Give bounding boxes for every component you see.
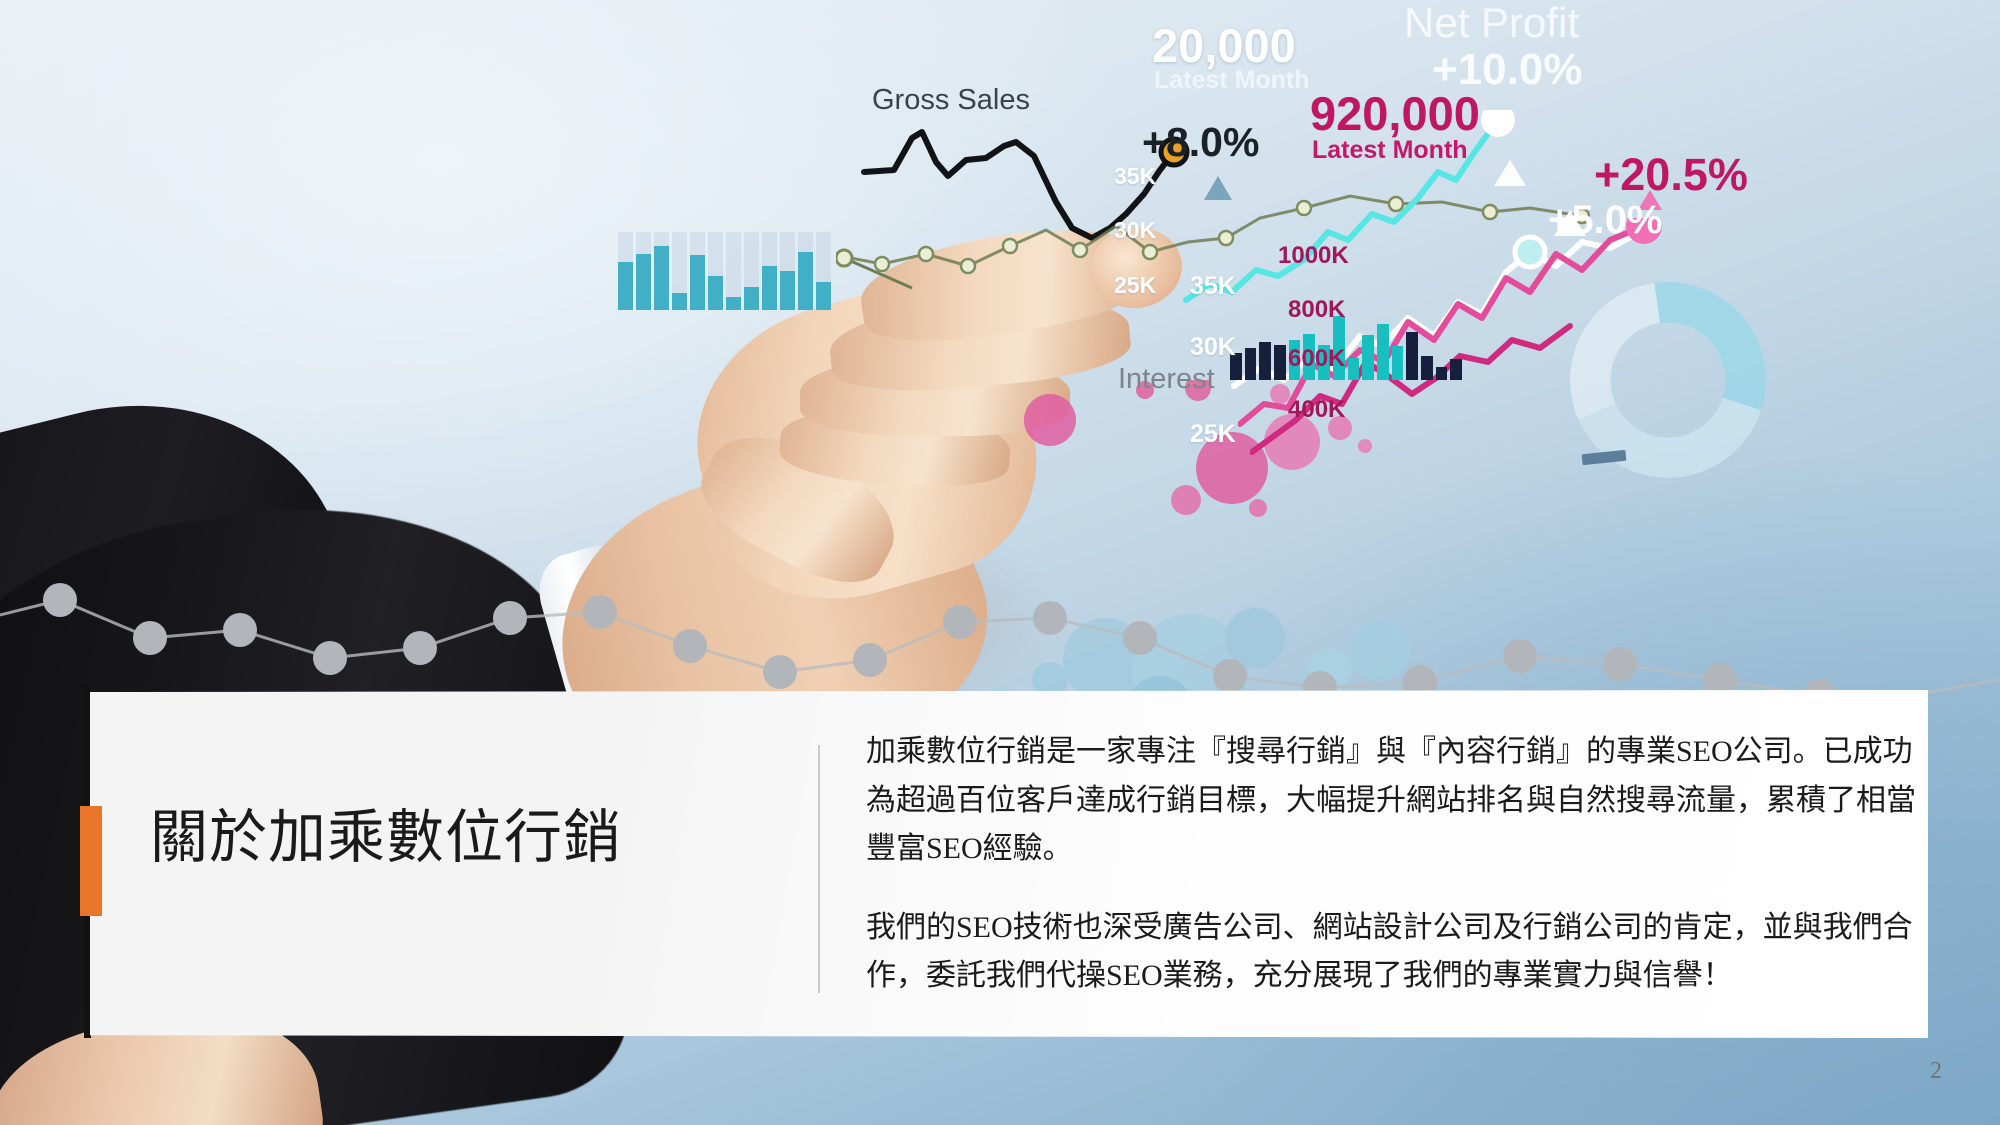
donut-chart (1570, 282, 1766, 478)
body-text: 加乘數位行銷是一家專注『搜尋行銷』與『內容行銷』的專業SEO公司。已成功為超過百… (866, 728, 1916, 1001)
axis-tick-left-30k: 30K (1114, 217, 1156, 244)
axis-tick-mid-25k: 25K (1190, 420, 1236, 449)
interest-label: Interest (1118, 365, 1215, 394)
trend-marker-icons (1150, 148, 1910, 428)
gross-sales-subtitle: Latest Month (1154, 68, 1310, 93)
page-title: 關於加乘數位行銷 (150, 806, 750, 871)
mini-bar-chart (618, 232, 840, 310)
axis-tick-right-1000k: 1000K (1278, 242, 1349, 270)
body-paragraph-2: 我們的SEO技術也深受廣告公司、網站設計公司及行銷公司的肯定，並與我們合作，委託… (866, 904, 1916, 1001)
mini-chart-callout (836, 246, 916, 294)
net-profit-label: Net Profit (1404, 2, 1579, 44)
presentation-slide: Gross Sales Interest 20,000 Latest Month… (0, 0, 2000, 1125)
gross-sales-value: 20,000 (1152, 22, 1296, 69)
interest-change: +5.0% (1548, 200, 1663, 240)
revenue-change: +20.5% (1594, 152, 1748, 197)
revenue-bar-chart (1230, 300, 1462, 380)
gross-sales-label: Gross Sales (872, 86, 1030, 115)
axis-tick-left-35k: 35K (1114, 163, 1156, 190)
revenue-value: 920,000 (1310, 90, 1480, 137)
axis-tick-mid-35k: 35K (1190, 272, 1236, 301)
axis-tick-mid-30k: 30K (1190, 333, 1236, 362)
axis-tick-left-25k: 25K (1114, 272, 1156, 299)
revenue-subtitle: Latest Month (1312, 138, 1468, 163)
axis-tick-right-800k: 800K (1288, 296, 1345, 324)
axis-tick-right-400k: 400K (1288, 396, 1345, 424)
body-paragraph-1: 加乘數位行銷是一家專注『搜尋行銷』與『內容行銷』的專業SEO公司。已成功為超過百… (866, 728, 1916, 874)
title-accent-bar (80, 806, 102, 916)
axis-tick-right-600k: 600K (1288, 345, 1345, 373)
vertical-divider (818, 745, 820, 993)
gross-sales-change: +8.0% (1142, 122, 1259, 163)
net-profit-change: +10.0% (1432, 48, 1582, 92)
page-number: 2 (1930, 1058, 1942, 1085)
